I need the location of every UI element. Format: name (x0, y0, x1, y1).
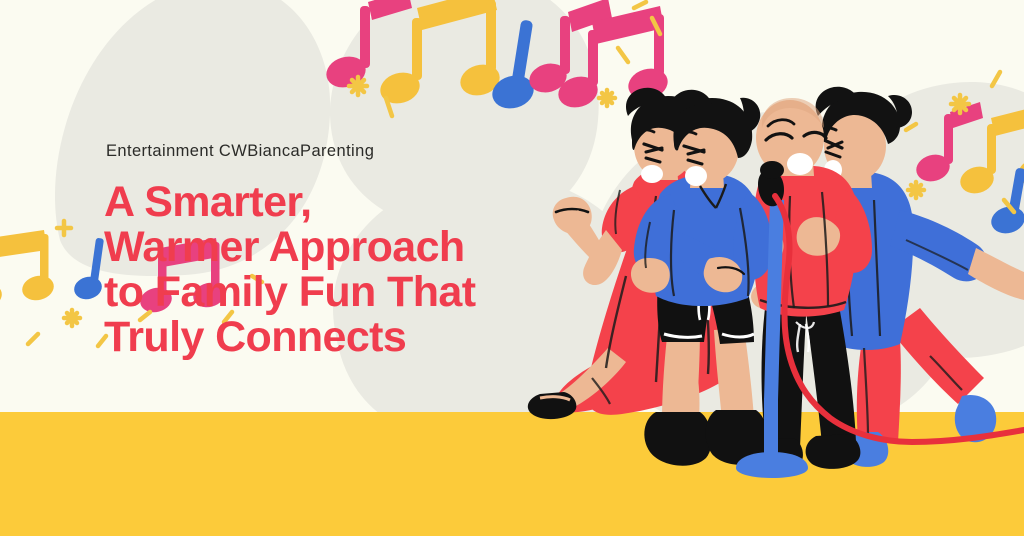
headline-line-4: Truly Connects (104, 315, 574, 360)
page-title: A Smarter, Warmer Approach to Family Fun… (104, 180, 574, 360)
hero-banner: Entertainment CWBiancaParenting A Smarte… (0, 0, 1024, 536)
headline-line-2: Warmer Approach (104, 225, 574, 270)
hero-text-block: Entertainment CWBiancaParenting A Smarte… (104, 142, 574, 360)
headline-line-3: to Family Fun That (104, 270, 574, 315)
eyebrow-category-label: Entertainment CWBiancaParenting (106, 142, 574, 162)
headline-line-1: A Smarter, (104, 180, 574, 225)
